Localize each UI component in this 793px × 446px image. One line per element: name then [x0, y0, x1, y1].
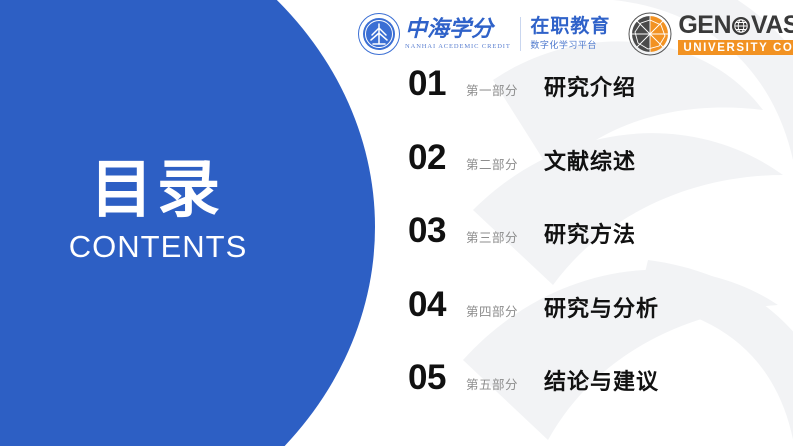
logo-genovasi: GEN VASI UNIVERSITY COLLEGE	[628, 12, 793, 56]
zaizhi-title: 在职教育	[530, 17, 610, 37]
title-english: CONTENTS	[0, 229, 320, 265]
contents-number: 04	[408, 285, 466, 325]
genovasi-text: GEN VASI UNIVERSITY COLLEGE	[678, 13, 793, 55]
contents-item-03[interactable]: 03 第三部分 研究方法	[408, 211, 788, 285]
logo-divider	[520, 17, 522, 51]
genovasi-name: GEN VASI	[678, 13, 793, 38]
contents-part: 第四部分	[466, 301, 544, 320]
zaizhi-subtitle: 数字化学习平台	[530, 38, 610, 51]
genovasi-name-right: VASI	[751, 13, 793, 38]
contents-label: 文献综述	[544, 144, 636, 176]
contents-part: 第三部分	[466, 227, 544, 246]
logo-bar: 中海学分 NANHAI ACEDEMIC CREDIT 在职教育 数字化学习平台	[358, 8, 793, 60]
nanhai-name-en: NANHAI ACEDEMIC CREDIT	[405, 43, 511, 50]
genovasi-subtitle: UNIVERSITY COLLEGE	[678, 40, 793, 55]
contents-item-04[interactable]: 04 第四部分 研究与分析	[408, 285, 788, 359]
contents-part: 第一部分	[466, 80, 544, 99]
contents-label: 结论与建议	[544, 364, 659, 396]
page-title: 目录 CONTENTS	[0, 158, 320, 265]
contents-number: 05	[408, 358, 466, 398]
logo-nanhai: 中海学分 NANHAI ACEDEMIC CREDIT	[358, 10, 511, 58]
pine-tree-seal-icon	[358, 13, 400, 55]
logo-zaizhi: 在职教育 数字化学习平台	[530, 17, 610, 52]
contents-item-05[interactable]: 05 第五部分 结论与建议	[408, 358, 788, 432]
presentation-slide: 目录 CONTENTS 中海学分 NANHAI ACEDEMIC CREDIT …	[0, 0, 793, 446]
contents-item-02[interactable]: 02 第二部分 文献综述	[408, 138, 788, 212]
genovasi-emblem-icon	[628, 12, 672, 56]
title-chinese: 目录	[0, 158, 320, 221]
contents-number: 01	[408, 64, 466, 104]
contents-label: 研究与分析	[544, 291, 659, 323]
contents-part: 第二部分	[466, 154, 544, 173]
genovasi-name-left: GEN	[678, 13, 731, 38]
contents-item-01[interactable]: 01 第一部分 研究介绍	[408, 64, 788, 138]
contents-label: 研究方法	[544, 217, 636, 249]
contents-label: 研究介绍	[544, 70, 636, 102]
globe-icon	[731, 16, 751, 36]
contents-number: 02	[408, 138, 466, 178]
nanhai-name-cn: 中海学分	[405, 19, 511, 41]
contents-part: 第五部分	[466, 374, 544, 393]
nanhai-text: 中海学分 NANHAI ACEDEMIC CREDIT	[405, 19, 511, 50]
contents-list: 01 第一部分 研究介绍 02 第二部分 文献综述 03 第三部分 研究方法 0…	[408, 64, 788, 432]
contents-number: 03	[408, 211, 466, 251]
